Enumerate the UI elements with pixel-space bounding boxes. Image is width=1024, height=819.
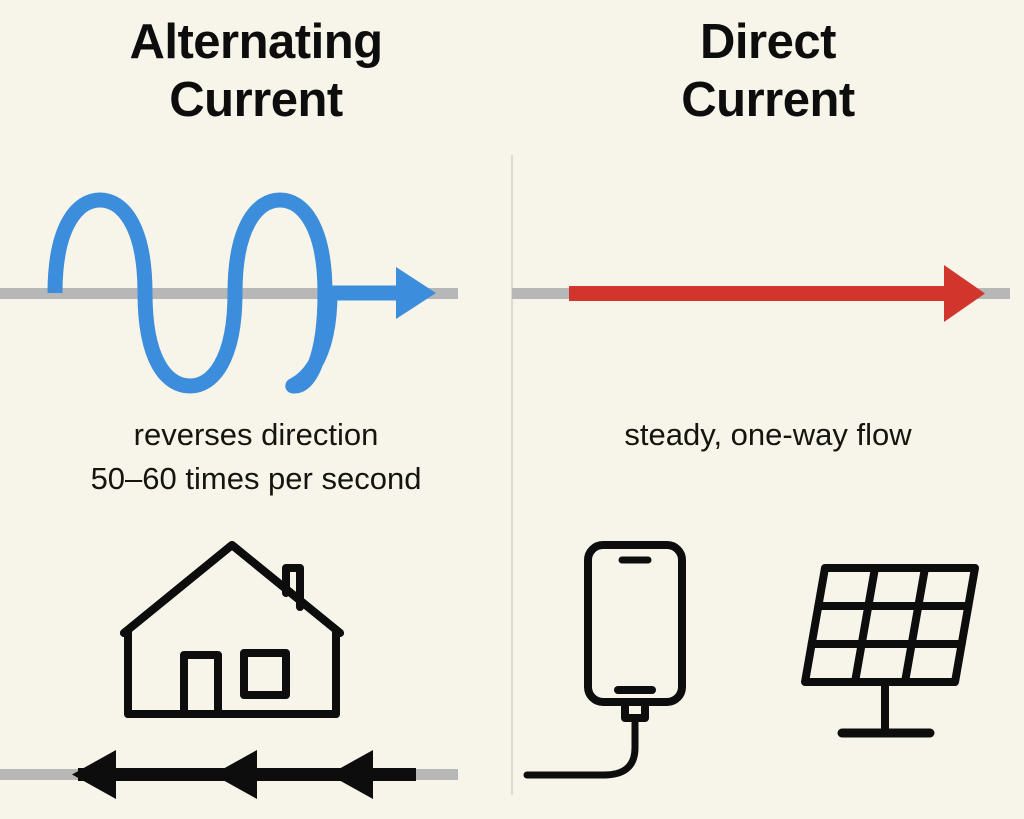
ac-sine-wave (55, 200, 398, 386)
reverse-arrowhead-2 (213, 750, 257, 799)
page-title-alternating-current: Alternating Current (0, 14, 512, 130)
solar-panel-frame (805, 568, 975, 682)
dc-arrow-shaft (569, 286, 955, 301)
reverse-flow-arrows (0, 750, 458, 799)
alternating-current-panel: Alternating Current (0, 0, 512, 819)
phone-charger-cable (527, 718, 635, 775)
ac-flow-arrowhead (396, 267, 436, 319)
solar-panel-col-line-2 (905, 568, 925, 682)
reverse-arrowhead-1 (72, 750, 116, 799)
page-title-direct-current: Direct Current (512, 14, 1024, 130)
dc-arrowhead (944, 265, 985, 322)
wire-baseline-top (0, 288, 458, 299)
alternating-current-caption: reverses direction 50–60 times per secon… (0, 413, 512, 501)
phone-charging-icon (527, 545, 682, 775)
solar-panel-col-line-1 (855, 568, 875, 682)
direct-current-caption: steady, one-way flow (512, 413, 1024, 457)
solar-panel-icon (805, 568, 975, 733)
diagram-canvas: Alternating Current (0, 0, 1024, 819)
wire-baseline-bottom (0, 769, 458, 780)
wire-baseline-dc (512, 288, 1010, 299)
phone-charger-plug (625, 702, 645, 718)
house-icon (124, 545, 340, 714)
dc-straight-arrow (569, 265, 985, 322)
direct-current-panel: Direct Current (512, 0, 1024, 819)
reverse-arrowhead-3 (329, 750, 373, 799)
phone-body (588, 545, 682, 702)
